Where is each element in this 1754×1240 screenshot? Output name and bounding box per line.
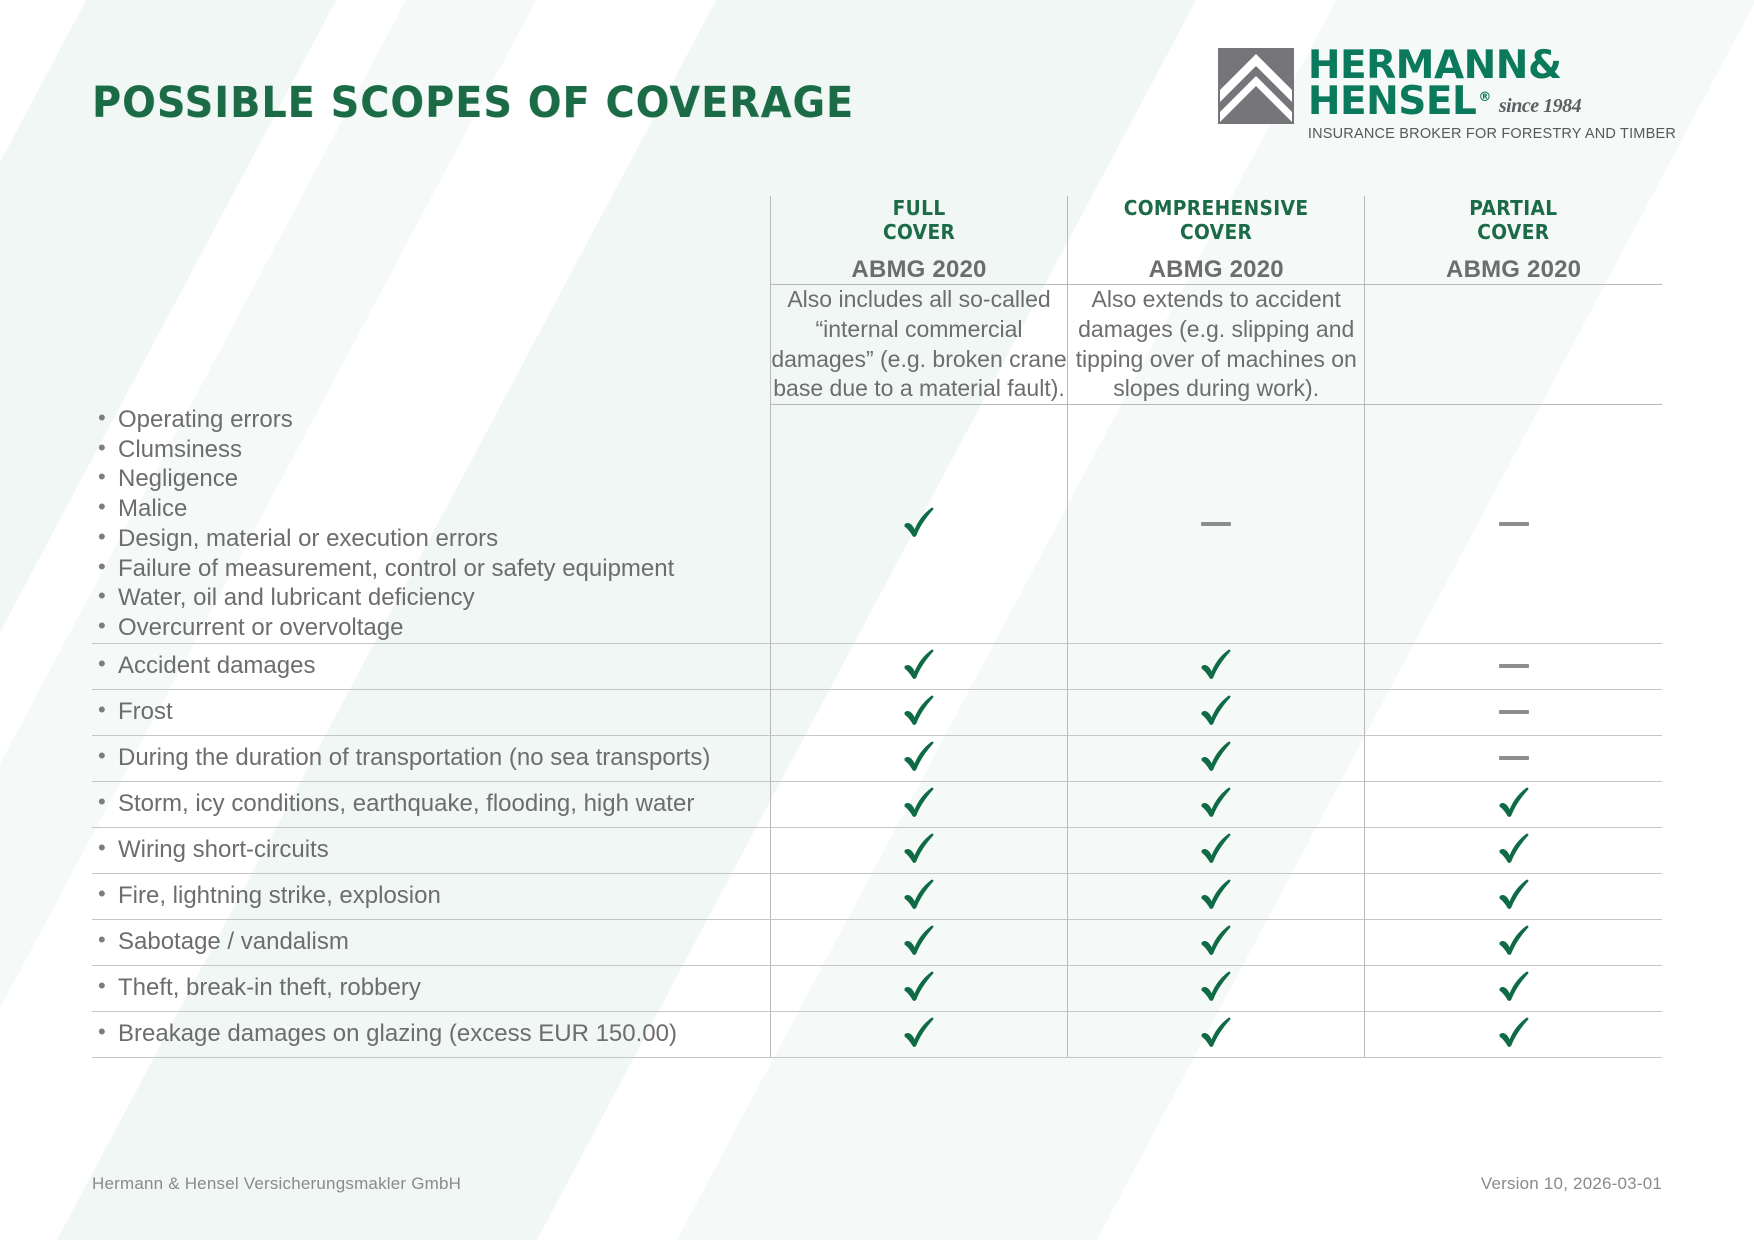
logo-since: since 1984 [1499,97,1581,115]
table-row: Sabotage / vandalism [92,919,1662,965]
list-item: Storm, icy conditions, earthquake, flood… [92,789,770,819]
footer-version: Version 10, 2026-03-01 [1481,1174,1662,1194]
list-item: Operating errors [92,405,770,435]
mark-cell-comprehensive-cover [1068,643,1365,689]
row-bullet-list: During the duration of transportation (n… [92,743,770,773]
check-icon [902,506,936,538]
column-title-line2: COVER [781,220,1056,244]
mark-cell-full-cover [770,735,1067,781]
mark-cell-comprehensive-cover [1068,735,1365,781]
check-icon [1497,786,1531,818]
mark-cell-partial-cover [1365,919,1662,965]
list-item: Fire, lightning strike, explosion [92,881,770,911]
description-spacer [92,284,770,405]
check-icon [902,1016,936,1048]
check-icon [902,694,936,726]
check-icon [1199,924,1233,956]
row-label-breakage-glazing: Breakage damages on glazing (excess EUR … [92,1011,770,1057]
page-footer: Hermann & Hensel Versicherungsmakler Gmb… [92,1174,1662,1194]
row-label-wiring-short-circuits: Wiring short-circuits [92,827,770,873]
mark-cell-partial-cover [1365,405,1662,644]
table-body: Operating errorsClumsinessNegligenceMali… [92,405,1662,1058]
check-icon [902,786,936,818]
row-bullet-list: Wiring short-circuits [92,835,770,865]
check-icon [902,648,936,680]
table-row: Storm, icy conditions, earthquake, flood… [92,781,1662,827]
column-title-line2: COVER [1376,220,1652,244]
row-bullet-list: Storm, icy conditions, earthquake, flood… [92,789,770,819]
row-label-theft-robbery: Theft, break-in theft, robbery [92,965,770,1011]
check-icon [1199,740,1233,772]
column-subtitle: ABMG 2020 [771,256,1067,284]
check-icon [1199,694,1233,726]
dash-icon [1499,710,1529,714]
mark-cell-full-cover [770,1011,1067,1057]
table-row: Fire, lightning strike, explosion [92,873,1662,919]
column-title-line1: PARTIAL [1376,196,1652,220]
mark-cell-comprehensive-cover [1068,827,1365,873]
column-subtitle: ABMG 2020 [1365,256,1662,284]
check-icon [1199,1016,1233,1048]
list-item: During the duration of transportation (n… [92,743,770,773]
row-bullet-list: Operating errorsClumsinessNegligenceMali… [92,405,770,643]
mark-cell-full-cover [770,919,1067,965]
coverage-matrix-table: FULL COVER ABMG 2020 COMPREHENSIVE COVER… [92,196,1662,1058]
table-header-row: FULL COVER ABMG 2020 COMPREHENSIVE COVER… [92,196,1662,284]
row-label-sabotage-vandalism: Sabotage / vandalism [92,919,770,965]
check-icon [1199,878,1233,910]
mark-cell-partial-cover [1365,873,1662,919]
mark-cell-comprehensive-cover [1068,919,1365,965]
mark-cell-comprehensive-cover [1068,689,1365,735]
table-row: Wiring short-circuits [92,827,1662,873]
mark-cell-comprehensive-cover [1068,873,1365,919]
mark-cell-full-cover [770,781,1067,827]
check-icon [1497,970,1531,1002]
company-logo: HERMANN& HENSEL® since 1984 INSURANCE BR… [1218,48,1676,142]
check-icon [902,878,936,910]
logo-ampersand: & [1528,43,1560,88]
column-description-comprehensive-cover: Also extends to accident damages (e.g. s… [1068,284,1365,405]
mark-cell-full-cover [770,643,1067,689]
column-title-line1: FULL [781,196,1056,220]
check-icon [1497,1016,1531,1048]
row-label-transportation: During the duration of transportation (n… [92,735,770,781]
dash-icon [1499,522,1529,526]
row-bullet-list: Theft, break-in theft, robbery [92,973,770,1003]
dash-icon [1499,756,1529,760]
mark-cell-partial-cover [1365,965,1662,1011]
chevron-stack-logo-icon [1218,48,1294,124]
column-subtitle: ABMG 2020 [1068,256,1364,284]
check-icon [1199,832,1233,864]
row-bullet-list: Breakage damages on glazing (excess EUR … [92,1019,770,1049]
mark-cell-comprehensive-cover [1068,781,1365,827]
table-row: During the duration of transportation (n… [92,735,1662,781]
mark-cell-comprehensive-cover [1068,1011,1365,1057]
registered-trademark-icon: ® [1478,92,1491,104]
column-header-partial-cover: PARTIAL COVER ABMG 2020 [1365,196,1662,284]
footer-company: Hermann & Hensel Versicherungsmakler Gmb… [92,1174,461,1194]
list-item: Negligence [92,464,770,494]
column-header-full-cover: FULL COVER ABMG 2020 [770,196,1067,284]
table-row: Frost [92,689,1662,735]
list-item: Sabotage / vandalism [92,927,770,957]
document-page: POSSIBLE SCOPES OF COVERAGE HERMANN& HEN… [0,0,1754,1240]
row-bullet-list: Fire, lightning strike, explosion [92,881,770,911]
mark-cell-comprehensive-cover [1068,405,1365,644]
check-icon [1497,878,1531,910]
row-bullet-list: Frost [92,697,770,727]
column-description-partial-cover [1365,284,1662,405]
list-item: Wiring short-circuits [92,835,770,865]
mark-cell-comprehensive-cover [1068,965,1365,1011]
column-title-line1: COMPREHENSIVE [1078,196,1353,220]
check-icon [1497,924,1531,956]
row-bullet-list: Accident damages [92,651,770,681]
mark-cell-partial-cover [1365,643,1662,689]
table-row: Theft, break-in theft, robbery [92,965,1662,1011]
mark-cell-partial-cover [1365,1011,1662,1057]
dash-icon [1201,522,1231,526]
logo-tagline: INSURANCE BROKER FOR FORESTRY AND TIMBER [1308,126,1676,142]
list-item: Theft, break-in theft, robbery [92,973,770,1003]
list-item: Malice [92,494,770,524]
list-item: Clumsiness [92,435,770,465]
check-icon [1199,786,1233,818]
row-bullet-list: Sabotage / vandalism [92,927,770,957]
mark-cell-full-cover [770,689,1067,735]
mark-cell-partial-cover [1365,781,1662,827]
list-item: Accident damages [92,651,770,681]
page-header: POSSIBLE SCOPES OF COVERAGE HERMANN& HEN… [0,0,1754,190]
list-item: Overcurrent or overvoltage [92,613,770,643]
check-icon [1497,832,1531,864]
row-label-frost: Frost [92,689,770,735]
mark-cell-partial-cover [1365,827,1662,873]
column-description-full-cover: Also includes all so-called “internal co… [770,284,1067,405]
mark-cell-full-cover [770,827,1067,873]
table-row: Operating errorsClumsinessNegligenceMali… [92,405,1662,644]
check-icon [902,740,936,772]
list-item: Breakage damages on glazing (excess EUR … [92,1019,770,1049]
column-header-comprehensive-cover: COMPREHENSIVE COVER ABMG 2020 [1068,196,1365,284]
list-item: Water, oil and lubricant deficiency [92,583,770,613]
row-label-fire-lightning-explosion: Fire, lightning strike, explosion [92,873,770,919]
table-row: Breakage damages on glazing (excess EUR … [92,1011,1662,1057]
list-item: Design, material or execution errors [92,524,770,554]
mark-cell-full-cover [770,873,1067,919]
page-title: POSSIBLE SCOPES OF COVERAGE [92,78,854,128]
check-icon [902,832,936,864]
logo-hensel: HENSEL [1308,84,1477,120]
header-spacer [92,196,770,284]
check-icon [902,924,936,956]
row-label-storm-icy-earthquake: Storm, icy conditions, earthquake, flood… [92,781,770,827]
list-item: Frost [92,697,770,727]
mark-cell-full-cover [770,405,1067,644]
column-title-line2: COVER [1078,220,1353,244]
dash-icon [1499,664,1529,668]
mark-cell-partial-cover [1365,735,1662,781]
row-label-accident-damages: Accident damages [92,643,770,689]
check-icon [902,970,936,1002]
table-description-row: Also includes all so-called “internal co… [92,284,1662,405]
table-row: Accident damages [92,643,1662,689]
mark-cell-full-cover [770,965,1067,1011]
mark-cell-partial-cover [1365,689,1662,735]
check-icon [1199,970,1233,1002]
list-item: Failure of measurement, control or safet… [92,554,770,584]
logo-wordmark-line2: HENSEL® since 1984 [1308,84,1676,120]
check-icon [1199,648,1233,680]
row-label-operating-errors-group: Operating errorsClumsinessNegligenceMali… [92,405,770,644]
